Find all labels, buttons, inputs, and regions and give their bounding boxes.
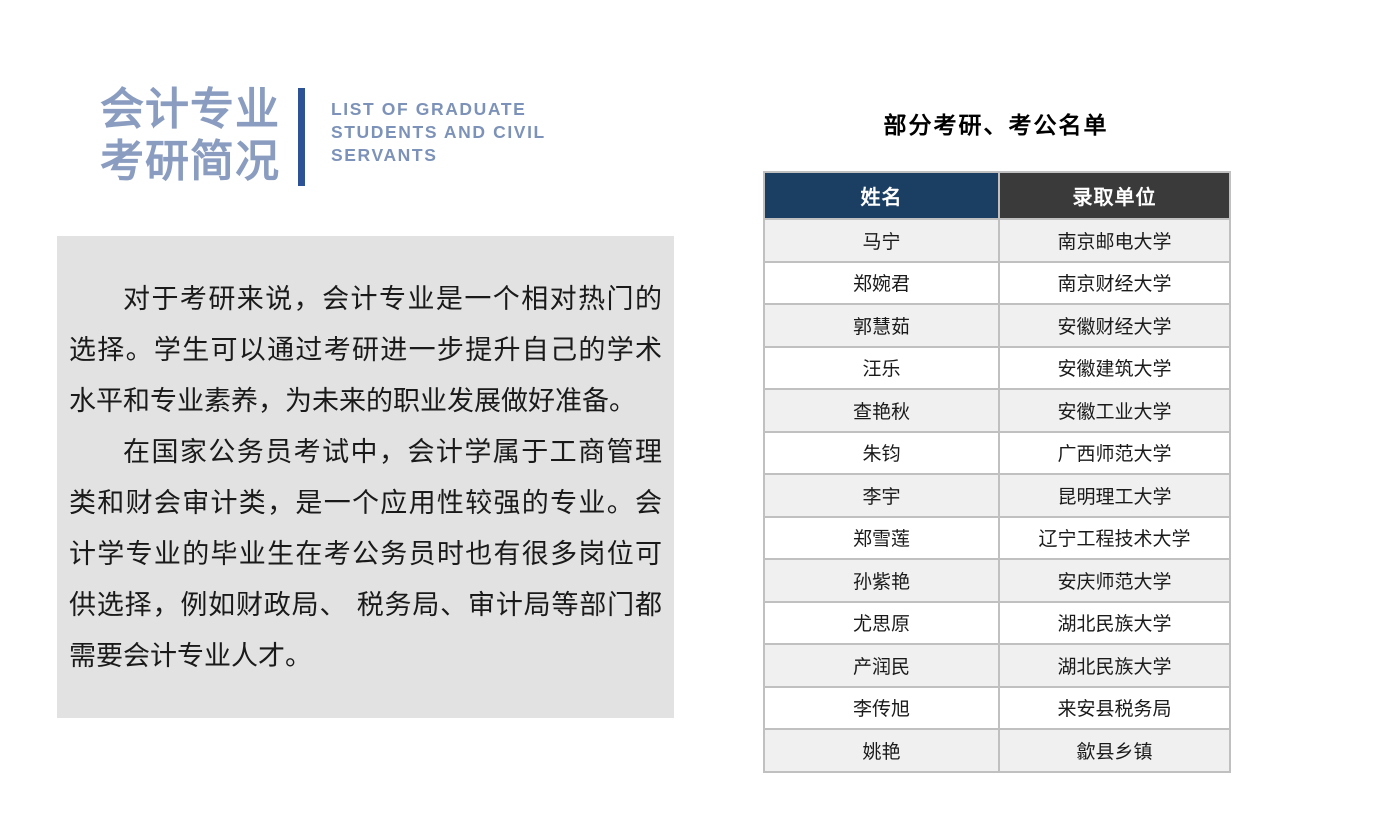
- table-row: 郭慧茹安徽财经大学: [764, 304, 1230, 347]
- cell-school: 歙县乡镇: [999, 729, 1230, 772]
- table-row: 产润民湖北民族大学: [764, 644, 1230, 687]
- table-row: 郑雪莲辽宁工程技术大学: [764, 517, 1230, 560]
- table-row: 孙紫艳安庆师范大学: [764, 559, 1230, 602]
- cell-school: 安徽工业大学: [999, 389, 1230, 432]
- page-subtitle-english: LIST OF GRADUATE STUDENTS AND CIVIL SERV…: [331, 98, 601, 167]
- cell-name: 李传旭: [764, 687, 999, 730]
- roster-table: 姓名 录取单位 马宁南京邮电大学郑婉君南京财经大学郭慧茹安徽财经大学汪乐安徽建筑…: [763, 171, 1231, 773]
- table-head: 姓名 录取单位: [764, 172, 1230, 219]
- cell-school: 广西师范大学: [999, 432, 1230, 475]
- page-title-chinese: 会计专业 考研简况: [100, 84, 280, 188]
- cell-school: 南京邮电大学: [999, 219, 1230, 262]
- cell-name: 姚艳: [764, 729, 999, 772]
- table-body: 马宁南京邮电大学郑婉君南京财经大学郭慧茹安徽财经大学汪乐安徽建筑大学查艳秋安徽工…: [764, 219, 1230, 772]
- cell-name: 朱钧: [764, 432, 999, 475]
- column-header-school: 录取单位: [999, 172, 1230, 219]
- cell-school: 湖北民族大学: [999, 644, 1230, 687]
- cell-name: 郑雪莲: [764, 517, 999, 560]
- cell-school: 湖北民族大学: [999, 602, 1230, 645]
- cell-school: 安庆师范大学: [999, 559, 1230, 602]
- table-row: 李宇昆明理工大学: [764, 474, 1230, 517]
- cell-school: 南京财经大学: [999, 262, 1230, 305]
- table-row: 朱钧广西师范大学: [764, 432, 1230, 475]
- cell-name: 孙紫艳: [764, 559, 999, 602]
- cell-name: 李宇: [764, 474, 999, 517]
- cell-name: 马宁: [764, 219, 999, 262]
- cell-name: 汪乐: [764, 347, 999, 390]
- cell-name: 尤思原: [764, 602, 999, 645]
- table-row: 郑婉君南京财经大学: [764, 262, 1230, 305]
- table-row: 查艳秋安徽工业大学: [764, 389, 1230, 432]
- body-paragraph-1: 对于考研来说，会计专业是一个相对热门的选择。学生可以通过考研进一步提升自己的学术…: [69, 274, 662, 427]
- table-row: 姚艳歙县乡镇: [764, 729, 1230, 772]
- table-title: 部分考研、考公名单: [763, 106, 1229, 140]
- cell-school: 昆明理工大学: [999, 474, 1230, 517]
- column-header-name: 姓名: [764, 172, 999, 219]
- body-text-panel: 对于考研来说，会计专业是一个相对热门的选择。学生可以通过考研进一步提升自己的学术…: [57, 236, 674, 718]
- table-row: 汪乐安徽建筑大学: [764, 347, 1230, 390]
- cell-name: 郭慧茹: [764, 304, 999, 347]
- body-paragraph-2: 在国家公务员考试中，会计学属于工商管理类和财会审计类，是一个应用性较强的专业。会…: [69, 427, 662, 682]
- table-row: 尤思原湖北民族大学: [764, 602, 1230, 645]
- cell-school: 安徽建筑大学: [999, 347, 1230, 390]
- table-row: 马宁南京邮电大学: [764, 219, 1230, 262]
- slide-header: 会计专业 考研简况 LIST OF GRADUATE STUDENTS AND …: [100, 84, 601, 188]
- cell-school: 来安县税务局: [999, 687, 1230, 730]
- cell-name: 产润民: [764, 644, 999, 687]
- table-header-row: 姓名 录取单位: [764, 172, 1230, 219]
- cell-school: 安徽财经大学: [999, 304, 1230, 347]
- title-divider: [298, 88, 305, 186]
- cell-name: 郑婉君: [764, 262, 999, 305]
- table-row: 李传旭来安县税务局: [764, 687, 1230, 730]
- cell-name: 查艳秋: [764, 389, 999, 432]
- cell-school: 辽宁工程技术大学: [999, 517, 1230, 560]
